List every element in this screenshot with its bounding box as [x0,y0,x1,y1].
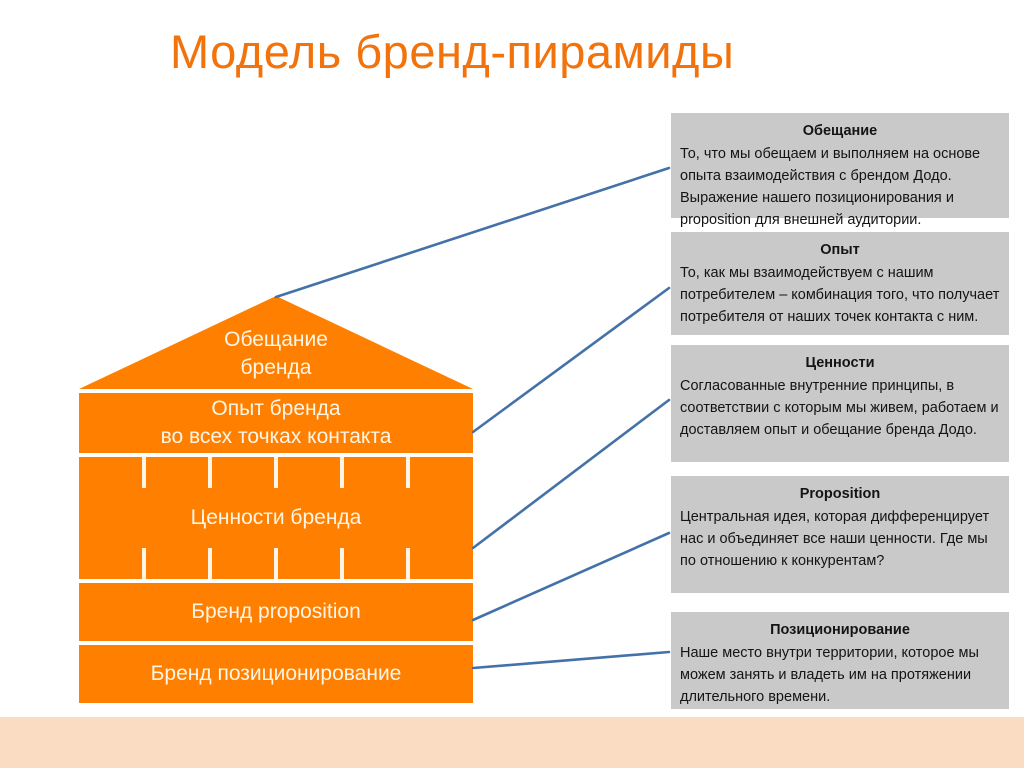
connector-line-promise [276,168,669,297]
brick-divider-bottom-3 [274,548,278,579]
brick-divider-top-3 [274,457,278,488]
footer-band [0,717,1024,768]
info-box-proposition[interactable]: Proposition Центральная идея, которая ди… [671,476,1009,593]
info-box-positioning-body: Наше место внутри территории, которое мы… [680,642,1000,708]
brick-divider-bottom-1 [142,548,146,579]
brick-divider-top-2 [208,457,212,488]
pyramid-roof-shape [79,296,473,389]
info-box-proposition-title: Proposition [680,483,1000,505]
pyramid-band-brand-proposition[interactable]: Бренд proposition [79,583,473,641]
brand-pyramid-diagram: Обещание бренда Опыт бренда во всех точк… [79,296,473,706]
info-box-experience-title: Опыт [680,239,1000,261]
brick-divider-top-4 [340,457,344,488]
brick-divider-bottom-5 [406,548,410,579]
brick-divider-top-5 [406,457,410,488]
info-box-promise-title: Обещание [680,120,1000,142]
pyramid-band-brand-positioning[interactable]: Бренд позиционирование [79,645,473,703]
connector-line-proposition [473,533,669,620]
info-box-experience-body: То, как мы взаимодействуем с нашим потре… [680,262,1000,328]
brick-divider-top-1 [142,457,146,488]
pyramid-band-brand-values[interactable]: Ценности бренда [79,457,473,579]
connector-line-values [473,400,669,548]
pyramid-band-brand-experience[interactable]: Опыт бренда во всех точках контакта [79,393,473,453]
band-positioning-line-1: Бренд позиционирование [151,660,402,688]
band-experience-line-2: во всех точках контакта [161,423,392,451]
info-box-promise-body: То, что мы обещаем и выполняем на основе… [680,143,1000,231]
connector-line-experience [473,288,669,432]
info-box-experience[interactable]: Опыт То, как мы взаимодействуем с нашим … [671,232,1009,335]
info-box-values-body: Согласованные внутренние принципы, в соо… [680,375,1000,441]
info-box-positioning-title: Позиционирование [680,619,1000,641]
page-title: Модель бренд-пирамиды [170,24,734,79]
info-box-positioning[interactable]: Позиционирование Наше место внутри терри… [671,612,1009,709]
band-proposition-line-1: Бренд proposition [191,598,361,626]
connector-line-positioning [473,652,669,668]
info-box-values[interactable]: Ценности Согласованные внутренние принци… [671,345,1009,462]
info-box-proposition-body: Центральная идея, которая дифференцирует… [680,506,1000,572]
band-values-line-1: Ценности бренда [191,504,362,532]
brick-divider-bottom-2 [208,548,212,579]
band-experience-line-1: Опыт бренда [211,395,340,423]
brick-divider-bottom-4 [340,548,344,579]
info-box-promise[interactable]: Обещание То, что мы обещаем и выполняем … [671,113,1009,218]
info-box-values-title: Ценности [680,352,1000,374]
